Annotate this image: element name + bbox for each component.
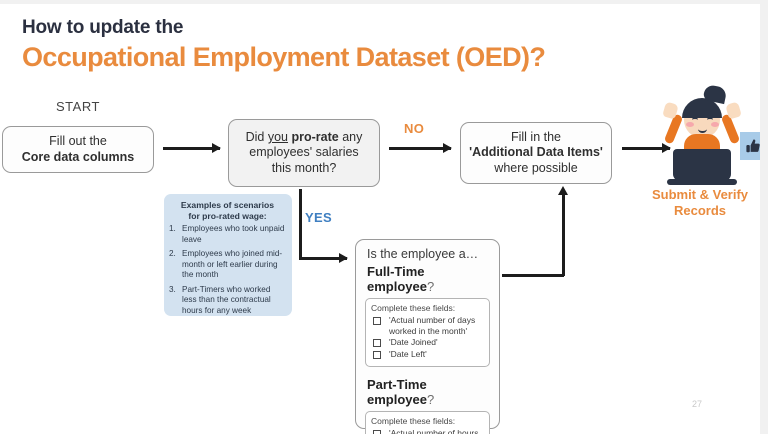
checklist-item[interactable]: 'Date Joined' — [371, 337, 484, 348]
prorate-you-underline: you — [268, 130, 288, 144]
checklist-item[interactable]: 'Actual number of hours worked in the mo… — [371, 428, 484, 434]
checkbox-icon[interactable] — [373, 351, 381, 359]
box-additional-line3: where possible — [469, 161, 603, 176]
box-prorate-line2: employees' salaries — [246, 145, 363, 160]
parttime-fields-panel: Complete these fields: 'Actual number of… — [365, 411, 490, 434]
smile-mouth — [698, 125, 707, 133]
checklist-item[interactable]: 'Actual number of days worked in the mon… — [371, 315, 484, 336]
prorate-bold-term: pro-rate — [292, 130, 339, 144]
checklist-item-label: 'Actual number of hours worked in the mo… — [389, 428, 484, 434]
callout-item-text: Part-Timers who worked less than the con… — [182, 285, 286, 317]
arrow-yes-to-employee-box — [299, 257, 347, 260]
callout-list-item: 2. Employees who joined mid-month or lef… — [169, 249, 286, 281]
arrow-prorate-no-to-additional — [389, 147, 451, 150]
flow-box-employee-type[interactable]: Is the employee a… Full-Time employee? C… — [355, 239, 500, 429]
parttime-qmark: ? — [427, 392, 434, 407]
start-label: START — [56, 99, 100, 114]
flow-box-additional-data-items[interactable]: Fill in the 'Additional Data Items' wher… — [460, 122, 612, 184]
eye-right — [707, 117, 713, 123]
arrow-yes-vertical-segment — [299, 189, 302, 259]
submit-label-line2: Records — [674, 203, 726, 218]
box-additional-line2: 'Additional Data Items' — [469, 145, 603, 160]
right-edge-strip — [760, 0, 768, 434]
box-prorate-line3: this month? — [246, 161, 363, 176]
page-number: 27 — [692, 399, 702, 409]
callout-list-item: 1. Employees who took unpaid leave — [169, 224, 286, 245]
box-core-line2: Core data columns — [22, 150, 135, 165]
checkbox-icon[interactable] — [373, 339, 381, 347]
top-edge-strip — [0, 0, 768, 4]
callout-item-number: 3. — [169, 285, 182, 317]
callout-heading: Examples of scenarios for pro-rated wage… — [169, 200, 286, 221]
checklist-item[interactable]: 'Date Left' — [371, 349, 484, 360]
submit-verify-records-label: Submit & Verify Records — [636, 187, 760, 220]
thumbs-up-icon — [740, 132, 760, 160]
callout-heading-line2: for pro-rated wage: — [188, 211, 266, 221]
employee-box-question: Is the employee a… — [367, 247, 490, 261]
fulltime-heading: Full-Time employee? — [367, 264, 490, 294]
laptop-base — [667, 179, 737, 185]
callout-item-number: 2. — [169, 249, 182, 281]
eye-left — [692, 117, 698, 123]
box-additional-line1: Fill in the — [469, 130, 603, 145]
slide-canvas: How to update the Occupational Employmen… — [0, 4, 760, 434]
flow-box-core-data[interactable]: Fill out the Core data columns — [2, 126, 154, 173]
callout-item-text: Employees who joined mid-month or left e… — [182, 249, 286, 281]
submit-label-line1: Submit & Verify — [652, 187, 748, 202]
callout-prorated-wage-examples: Examples of scenarios for pro-rated wage… — [164, 194, 292, 316]
arrow-employee-elbow-up-to-additional — [562, 194, 565, 276]
checklist-item-label: 'Date Joined' — [389, 337, 484, 348]
laptop-icon — [673, 149, 731, 181]
page-title-line2: Occupational Employment Dataset (OED)? — [22, 42, 545, 73]
arrow-core-to-prorate — [163, 147, 220, 150]
callout-item-number: 1. — [169, 224, 182, 245]
checklist-item-label: 'Date Left' — [389, 349, 484, 360]
celebrating-person-illustration — [648, 86, 754, 198]
parttime-fields-header: Complete these fields: — [371, 416, 484, 426]
box-core-line1: Fill out the — [22, 134, 135, 149]
box-prorate-line1: Did you pro-rate any — [246, 130, 363, 145]
fulltime-qmark: ? — [427, 279, 434, 294]
callout-heading-line1: Examples of scenarios — [181, 200, 274, 210]
flow-box-prorate-question[interactable]: Did you pro-rate any employees' salaries… — [228, 119, 380, 187]
callout-list-item: 3. Part-Timers who worked less than the … — [169, 285, 286, 317]
checkbox-icon[interactable] — [373, 317, 381, 325]
branch-label-yes: YES — [305, 210, 332, 225]
page-title-line1: How to update the — [22, 17, 183, 39]
hand-right — [725, 101, 742, 119]
arrow-employee-elbow-horizontal — [502, 274, 564, 277]
fulltime-fields-panel: Complete these fields: 'Actual number of… — [365, 298, 490, 367]
callout-item-text: Employees who took unpaid leave — [182, 224, 286, 245]
checkbox-icon[interactable] — [373, 430, 381, 434]
branch-label-no: NO — [404, 121, 424, 136]
fulltime-fields-header: Complete these fields: — [371, 303, 484, 313]
parttime-heading: Part-Time employee? — [367, 377, 490, 407]
checklist-item-label: 'Actual number of days worked in the mon… — [389, 315, 484, 336]
